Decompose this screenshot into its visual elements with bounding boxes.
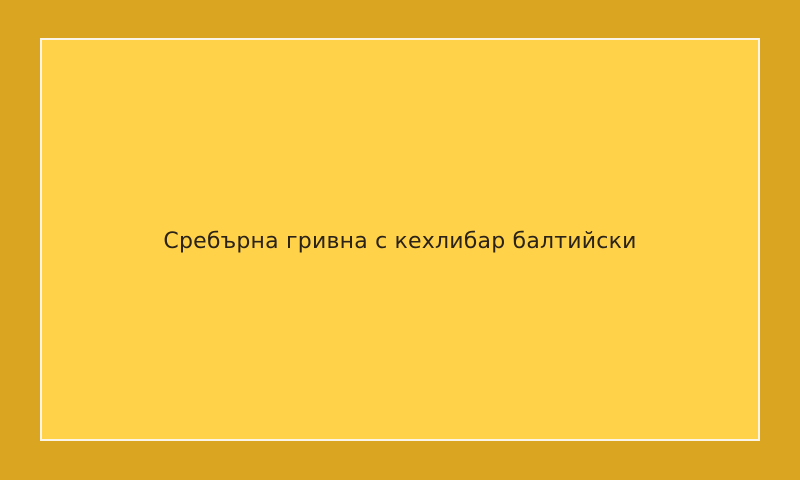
placeholder-caption-text: Сребърна гривна с кехлибар балтийски (163, 228, 636, 256)
caption-block: Сребърна гривна с кехлибар балтийски (42, 228, 758, 256)
image-placeholder-panel: Сребърна гривна с кехлибар балтийски (40, 38, 760, 441)
placeholder-canvas: Сребърна гривна с кехлибар балтийски (0, 0, 800, 480)
